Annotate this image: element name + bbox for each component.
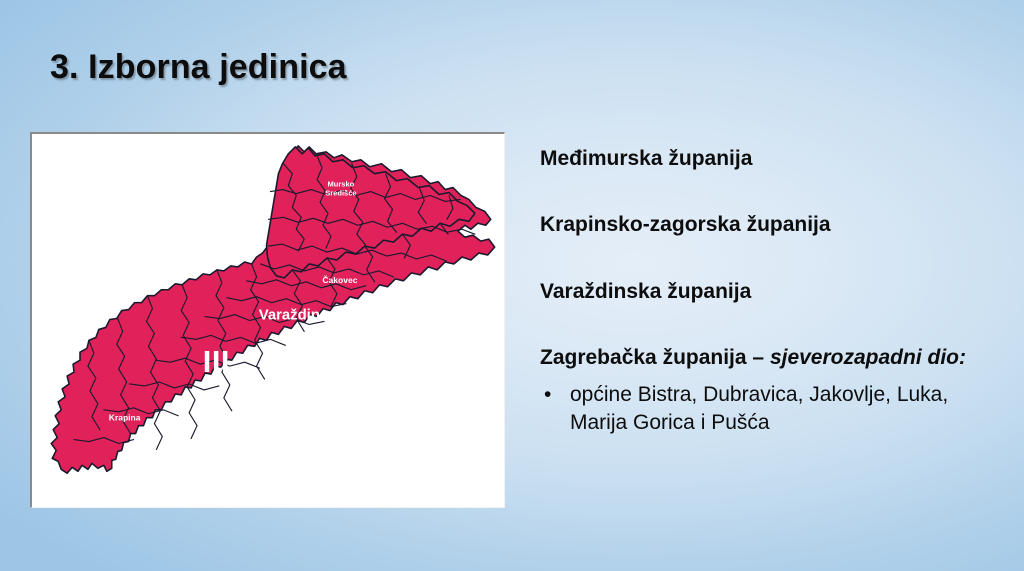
county-zagrebacka-emphasis: sjeverozapadni dio:: [770, 346, 966, 369]
map-region-group: Mursko Središće Čakovec Varaždin Ludbreg…: [51, 146, 494, 478]
map-label-zlatar: Zlatar: [201, 418, 225, 428]
map-label-varazdin: Varaždin: [259, 308, 320, 324]
map-label-ludbreg: Ludbreg: [374, 344, 408, 354]
map-label-mursko: Mursko: [328, 180, 355, 189]
county-list: Međimurska županija Krapinsko-zagorska ž…: [540, 146, 1010, 436]
county-zagrebacka-lead: Zagrebačka županija –: [540, 346, 770, 369]
map-label-sredisce: Središće: [325, 189, 356, 198]
map-label-zabok: Zabok: [127, 468, 152, 478]
map-label-novi-marof: Novi Marof: [253, 382, 297, 392]
map-label-cakovec: Čakovec: [322, 274, 357, 285]
presentation-slide: 3. Izborna jedinica: [0, 0, 1024, 571]
map-label-district-number: III.: [203, 344, 239, 379]
municipality-list-text: općine Bistra, Dubravica, Jakovlje, Luka…: [570, 381, 990, 436]
list-item: • općine Bistra, Dubravica, Jakovlje, Lu…: [540, 381, 1010, 436]
county-varazdinska: Varaždinska županija: [540, 279, 1010, 305]
map-image-panel: Mursko Središće Čakovec Varaždin Ludbreg…: [30, 132, 505, 508]
county-zagrebacka: Zagrebačka županija – sjeverozapadni dio…: [540, 345, 1010, 371]
page-title: 3. Izborna jedinica: [50, 48, 347, 87]
croatia-district-map: Mursko Središće Čakovec Varaždin Ludbreg…: [32, 134, 504, 507]
bullet-icon: •: [540, 381, 570, 409]
county-medimurska: Međimurska županija: [540, 146, 1010, 172]
map-label-krapina: Krapina: [109, 413, 141, 423]
county-krapinsko-zagorska: Krapinsko-zagorska županija: [540, 212, 1010, 238]
